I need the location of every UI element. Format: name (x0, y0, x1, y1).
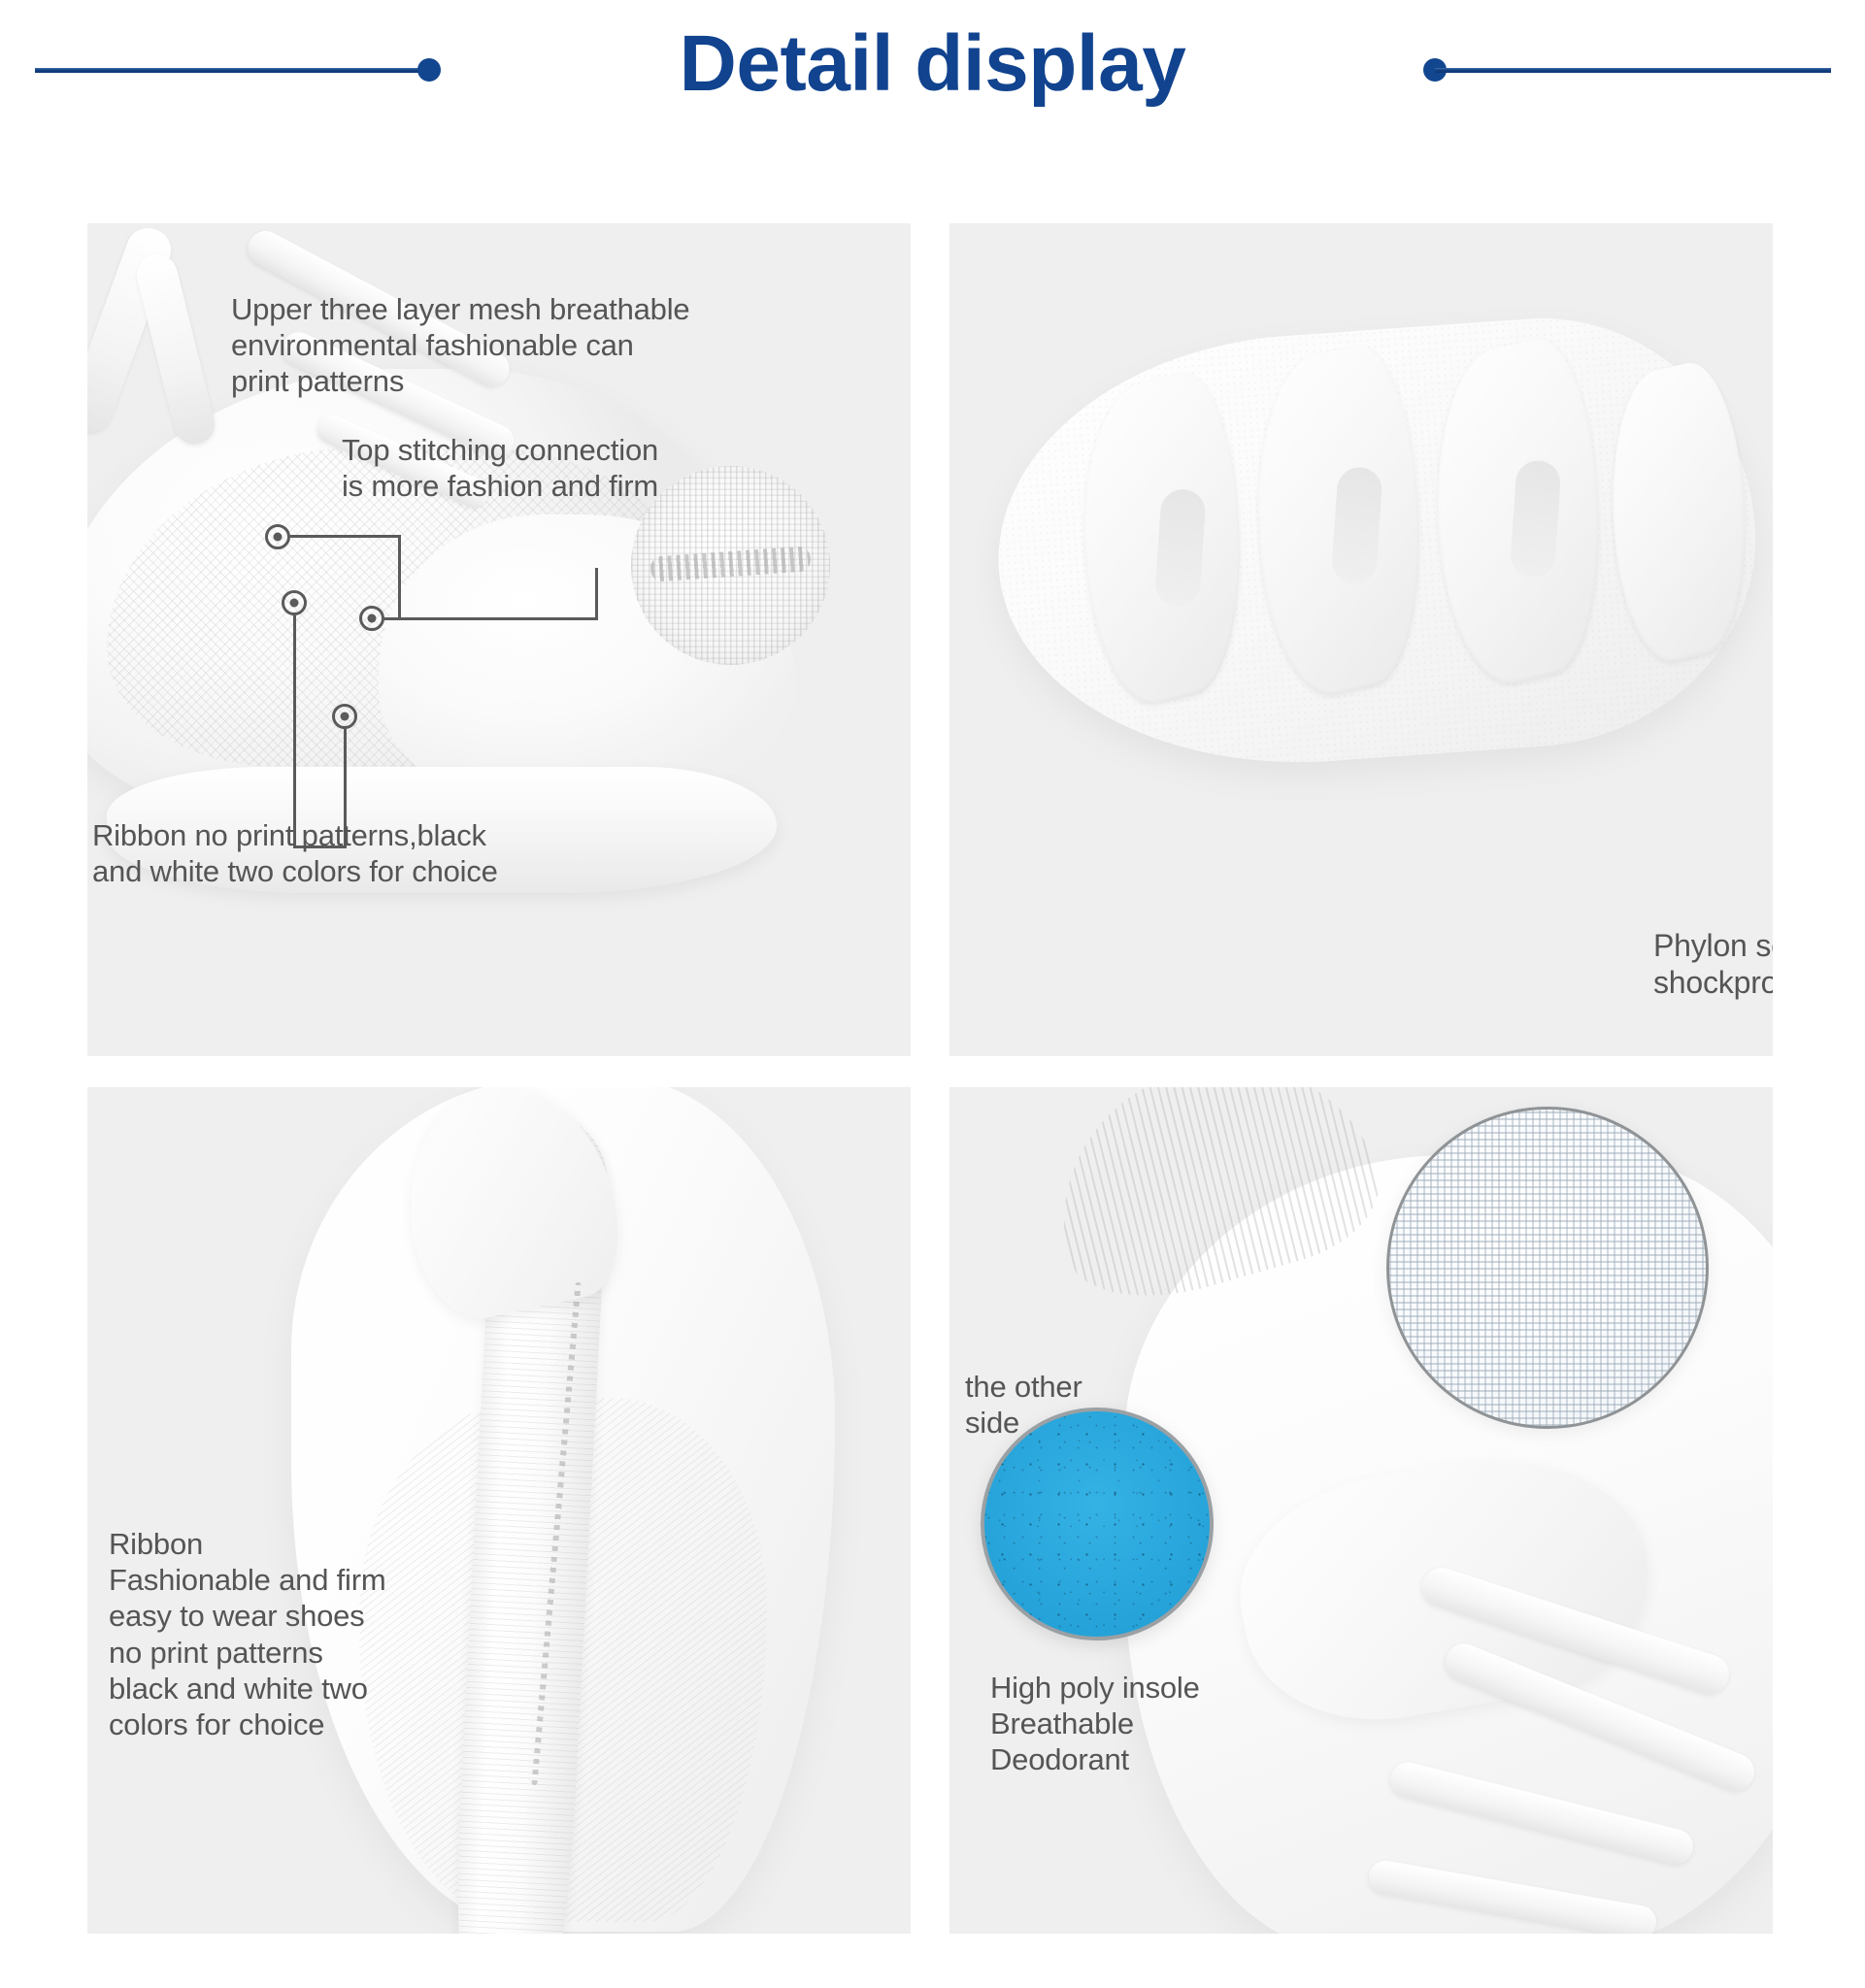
leader-line (595, 568, 598, 620)
tread-groove (1331, 466, 1383, 585)
page-header: Detail display (0, 0, 1865, 155)
panel-ribbon-heel[interactable]: Ribbon Fashionable and firm easy to wear… (87, 1087, 911, 1934)
outsole-photo (949, 223, 1773, 1056)
outsole-shape (984, 304, 1770, 782)
detail-display-page: Detail display (0, 0, 1865, 1988)
shoelace-group (1415, 1592, 1773, 1934)
leader-line (384, 617, 598, 620)
callout-marker-icon (332, 704, 357, 729)
leader-line (290, 535, 401, 538)
other-side-callout: the other side (965, 1369, 1217, 1441)
leader-line (398, 535, 401, 618)
detail-panel-grid: Upper three layer mesh breathable enviro… (87, 223, 1773, 1934)
upper-mesh-callout: Upper three layer mesh breathable enviro… (231, 291, 872, 400)
shoelace-strand (132, 250, 218, 448)
tread-groove (1154, 488, 1207, 608)
heel-collar-photo (87, 1087, 911, 1934)
blue-insole-circle (981, 1408, 1214, 1640)
callout-marker-icon (282, 590, 307, 615)
header-rule-right (1435, 68, 1831, 73)
panel-upper-mesh[interactable]: Upper three layer mesh breathable enviro… (87, 223, 911, 1056)
insole-photo (949, 1087, 1773, 1934)
shoelace-strand (1386, 1759, 1696, 1868)
ribbon-fashion-callout: Ribbon Fashionable and firm easy to wear… (109, 1526, 526, 1742)
page-title: Detail display (0, 6, 1865, 122)
insole-speckle-texture (984, 1411, 1210, 1637)
callout-marker-icon (265, 524, 290, 549)
stitch-seam-texture (649, 546, 811, 581)
leader-line (293, 615, 296, 848)
high-poly-insole-callout: High poly insole Breathable Deodorant (990, 1670, 1359, 1778)
panel-insole[interactable]: the other side High poly insole Breathab… (949, 1087, 1773, 1934)
callout-marker-icon (359, 606, 384, 631)
panel-phylon-sole[interactable]: Phylon sole Environmental protection sho… (949, 223, 1773, 1056)
ribbon-print-callout: Ribbon no print patterns,black and white… (92, 817, 694, 889)
phylon-sole-callout: Phylon sole Environmental protection sho… (1653, 927, 1773, 1002)
top-stitching-callout: Top stitching connection is more fashion… (342, 432, 885, 504)
tread-groove (1509, 459, 1561, 579)
mesh-detail-circle (1386, 1107, 1709, 1429)
